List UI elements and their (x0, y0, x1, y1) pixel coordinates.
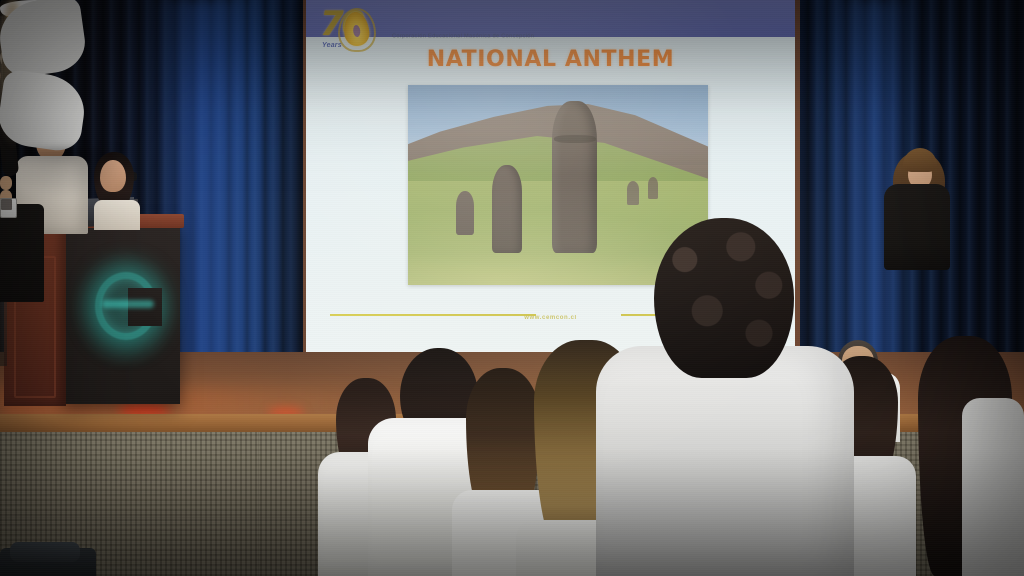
logo-flame-core (353, 25, 361, 38)
audience-5-grey-hoodie (596, 346, 854, 576)
audience-5-hood-shadow (0, 148, 128, 198)
audience-5-hood-right (0, 69, 89, 154)
audience-5-hoodie-logo (0, 198, 17, 218)
slide-organization-line: Corporación Educacional Masónica de Conc… (392, 32, 534, 38)
presenter-leg-separation (0, 302, 7, 366)
audience-5-curly-hair (654, 218, 794, 378)
assembly-photograph: 70 Years Corporación Educacional Masónic… (0, 0, 1024, 576)
podium-emblem-bar (102, 300, 154, 308)
foreground-chair-back (10, 542, 80, 562)
audience-student-5 (0, 0, 128, 218)
audience-5-hood-left (0, 0, 89, 79)
audience-9-hoodie (962, 398, 1024, 576)
audience-5-hoodie-logo-mark (1, 199, 12, 210)
moai-easter-island-photo (408, 85, 708, 285)
photo-projector-haze (408, 85, 708, 285)
presenter-legs (0, 204, 44, 302)
slide-title: NATIONAL ANTHEM (306, 47, 795, 72)
presenter-black-top (884, 184, 950, 270)
